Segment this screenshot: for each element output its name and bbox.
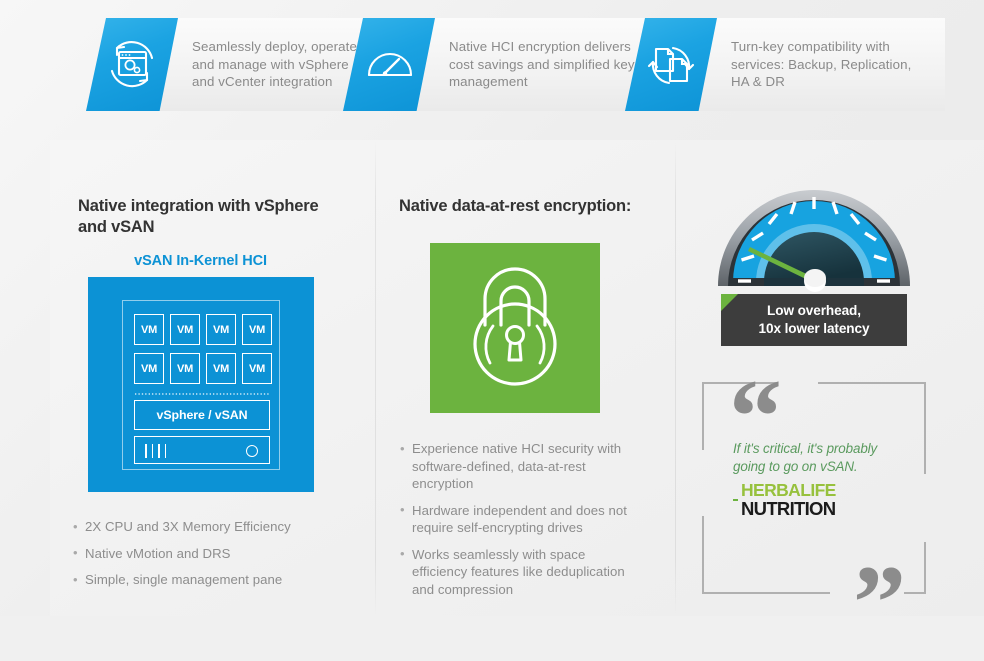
vm-cell: VM: [242, 353, 272, 384]
vsan-inner-frame: VM VM VM VM VM VM VM VM vSphere / vSAN: [122, 300, 280, 470]
vm-cell: VM: [170, 314, 200, 345]
quote-frame-segment: [818, 382, 926, 384]
banner-3: Turn-key compatibility with services: Ba…: [625, 18, 945, 111]
middle-column-bullets: Experience native HCI security with soft…: [399, 440, 641, 607]
quote-text: If it's critical, it's probably going to…: [733, 440, 909, 476]
banner-2-text: Native HCI encryption delivers cost savi…: [449, 38, 635, 91]
quote-frame-segment: [924, 542, 926, 594]
vm-row-2: VM VM VM VM: [134, 353, 272, 384]
vm-cell: VM: [134, 314, 164, 345]
vm-cell: VM: [242, 314, 272, 345]
middle-column-heading: Native data-at-rest encryption:: [399, 196, 649, 217]
quote-frame-segment: [702, 592, 830, 594]
vsphere-vsan-bar: vSphere / vSAN: [134, 400, 270, 430]
list-item: Experience native HCI security with soft…: [399, 440, 641, 493]
vsan-diagram: VM VM VM VM VM VM VM VM vSphere / vSAN: [88, 277, 314, 492]
list-item: Works seamlessly with space efficiency f…: [399, 546, 641, 599]
logo-primary-text: HERBALIFE: [741, 482, 836, 499]
banner-1: Seamlessly deploy, operate and manage wi…: [86, 18, 386, 111]
vm-cell: VM: [134, 353, 164, 384]
vm-cell: VM: [170, 353, 200, 384]
padlock-icon: [430, 243, 600, 413]
banner-3-text: Turn-key compatibility with services: Ba…: [731, 38, 933, 91]
vm-cell: VM: [206, 314, 236, 345]
column-divider-left: [375, 140, 376, 616]
vsan-diagram-label: vSAN In-Kernel HCI: [78, 253, 323, 269]
server-drive-bays-icon: [145, 444, 166, 458]
herbalife-nutrition-logo: HERBALIFE NUTRITION: [733, 482, 836, 518]
latency-badge: Low overhead, 10x lower latency: [721, 294, 907, 346]
header-banner-strip: Seamlessly deploy, operate and manage wi…: [0, 0, 984, 140]
server-hardware-bar: [134, 436, 270, 464]
list-item: Simple, single management pane: [72, 571, 334, 589]
quote-close-mark: ”: [853, 550, 903, 656]
left-column-bullets: 2X CPU and 3X Memory Efficiency Native v…: [72, 518, 334, 598]
server-power-icon: [246, 445, 258, 457]
quote-frame-segment: [924, 382, 926, 474]
logo-dash-icon: [733, 499, 738, 501]
infographic-canvas: Seamlessly deploy, operate and manage wi…: [0, 0, 984, 616]
banner-2: Native HCI encryption delivers cost savi…: [343, 18, 643, 111]
vm-cell: VM: [206, 353, 236, 384]
vm-row-1: VM VM VM VM: [134, 314, 272, 345]
latency-badge-line-2: 10x lower latency: [759, 320, 870, 338]
list-item: Hardware independent and does not requir…: [399, 502, 641, 537]
logo-secondary-text: NUTRITION: [741, 499, 836, 518]
list-item: 2X CPU and 3X Memory Efficiency: [72, 518, 334, 536]
customer-quote-card: “ ” If it's critical, it's probably goin…: [699, 372, 929, 600]
quote-frame-segment: [702, 516, 704, 594]
latency-badge-line-1: Low overhead,: [767, 302, 861, 320]
dotted-separator: [134, 393, 270, 395]
gauge-icon: [714, 182, 914, 297]
quote-frame-segment: [702, 382, 704, 450]
list-item: Native vMotion and DRS: [72, 545, 334, 563]
column-divider-right: [675, 140, 676, 616]
left-column-heading: Native integration with vSphere and vSAN: [78, 196, 333, 238]
quote-frame-segment: [904, 592, 926, 594]
